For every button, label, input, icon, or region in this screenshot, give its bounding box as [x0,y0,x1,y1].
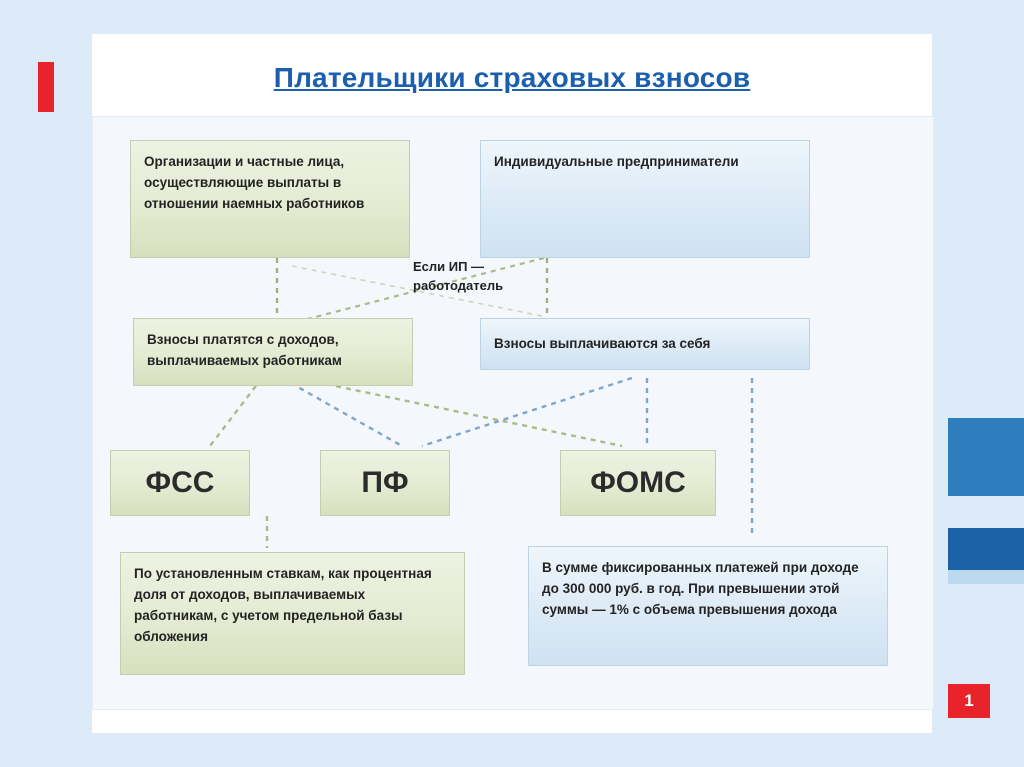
page-title: Плательщики страховых взносов [92,62,932,94]
node-rates-fixed: В сумме фиксированных платежей при доход… [528,546,888,666]
edge-label-ip-employer: Если ИП — работодатель [413,258,573,296]
node-label: ПФ [361,460,408,507]
frame-right [932,0,1024,767]
node-label: ФОМС [590,460,686,507]
node-label: Взносы платятся с доходов, выплачиваемых… [147,332,342,368]
node-label: Индивидуальные предприниматели [494,152,739,173]
node-payers-orgs: Организации и частные лица, осуществляющ… [130,140,410,258]
node-fund-fss: ФСС [110,450,250,516]
node-contrib-self: Взносы выплачиваются за себя [480,318,810,370]
edge-label-text: Если ИП — работодатель [413,259,503,293]
blue-accent-block-secondary [948,528,1024,570]
node-label: Организации и частные лица, осуществляющ… [144,154,364,211]
blue-accent-strip [948,570,1024,584]
page-number-badge: 1 [948,684,990,718]
red-accent-bar [38,62,54,112]
slide-canvas: Плательщики страховых взносов Организаци… [0,0,1024,767]
node-label: ФСС [146,460,215,507]
node-label: По установленным ставкам, как процентная… [134,566,432,644]
node-label: В сумме фиксированных платежей при доход… [542,560,859,617]
node-payers-ip: Индивидуальные предприниматели [480,140,810,258]
frame-bottom [0,733,1024,767]
node-contrib-employees: Взносы платятся с доходов, выплачиваемых… [133,318,413,386]
node-rates-employees: По установленным ставкам, как процентная… [120,552,465,675]
frame-left [0,0,92,767]
frame-top [0,0,1024,34]
node-fund-foms: ФОМС [560,450,716,516]
node-label: Взносы выплачиваются за себя [494,334,710,355]
blue-accent-block [948,418,1024,496]
node-fund-pf: ПФ [320,450,450,516]
